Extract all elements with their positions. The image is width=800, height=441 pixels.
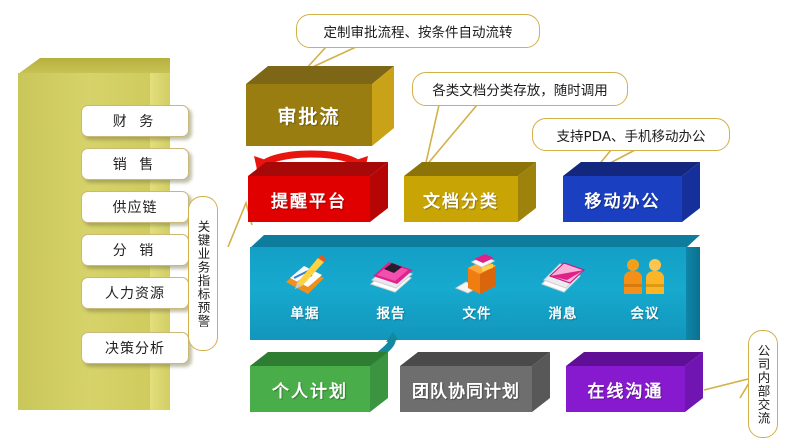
callout-approval-flow: 定制审批流程、按条件自动流转	[296, 14, 540, 48]
sidebar-item-label: 分 销	[113, 240, 157, 260]
cabinet-icon	[454, 252, 500, 298]
sidebar-item-label: 财 务	[113, 111, 157, 131]
callout-internal-communication: 公司内部交流	[748, 330, 778, 438]
diagram-canvas: 财 务 销 售 供应链 分 销 人力资源 决策分析 关键业务指标预警 定制审批流…	[0, 0, 800, 441]
box-label: 审批流	[277, 102, 340, 129]
box-label: 在线沟通	[588, 377, 664, 402]
callout-text: 支持PDA、手机移动办公	[556, 125, 705, 145]
service-item-label: 报告	[377, 302, 406, 322]
service-item-report[interactable]: 报告	[352, 252, 430, 322]
sidebar-item-label: 决策分析	[105, 338, 165, 358]
service-item-file[interactable]: 文件	[438, 252, 516, 322]
sidebar-item-finance[interactable]: 财 务	[81, 105, 189, 137]
service-item-label: 文件	[463, 302, 492, 322]
box-mobile-office[interactable]: 移动办公	[563, 162, 700, 224]
sidebar-item-decision-analysis[interactable]: 决策分析	[81, 332, 189, 364]
callout-mobile-office: 支持PDA、手机移动办公	[532, 118, 730, 151]
callout-text: 公司内部交流	[754, 344, 773, 425]
callout-kpi-alert: 关键业务指标预警	[188, 196, 218, 351]
box-online-chat[interactable]: 在线沟通	[566, 352, 703, 414]
service-item-meeting[interactable]: 会议	[606, 252, 684, 322]
callout-text: 定制审批流程、按条件自动流转	[324, 21, 513, 41]
books-icon	[368, 252, 414, 298]
sidebar-item-hr[interactable]: 人力资源	[81, 277, 189, 309]
box-approval-flow[interactable]: 审批流	[246, 66, 394, 150]
sidebar-item-label: 销 售	[113, 154, 157, 174]
sidebar-item-supply-chain[interactable]: 供应链	[81, 191, 189, 223]
service-item-message[interactable]: 消息	[524, 252, 602, 322]
box-label: 移动办公	[585, 187, 661, 212]
people-icon	[619, 252, 671, 298]
box-personal-plan[interactable]: 个人计划	[250, 352, 388, 414]
box-label: 文档分类	[423, 187, 499, 212]
callout-document-storage: 各类文档分类存放，随时调用	[412, 72, 628, 106]
service-item-label: 会议	[631, 302, 660, 322]
sidebar-item-distribution[interactable]: 分 销	[81, 234, 189, 266]
form-icon	[282, 252, 328, 298]
box-label: 个人计划	[272, 377, 348, 402]
box-team-plan[interactable]: 团队协同计划	[400, 352, 550, 414]
box-reminder-platform[interactable]: 提醒平台	[248, 162, 388, 224]
sidebar-item-sales[interactable]: 销 售	[81, 148, 189, 180]
service-item-label: 单据	[291, 302, 320, 322]
mail-icon	[540, 252, 586, 298]
callout-text: 关键业务指标预警	[194, 220, 213, 328]
pillar-top-face	[18, 58, 170, 74]
box-document-category[interactable]: 文档分类	[404, 162, 536, 224]
callout-text: 各类文档分类存放，随时调用	[432, 79, 608, 99]
service-item-form[interactable]: 单据	[266, 252, 344, 322]
box-label: 团队协同计划	[412, 377, 520, 402]
box-label: 提醒平台	[271, 187, 347, 212]
service-item-label: 消息	[549, 302, 578, 322]
sidebar-item-label: 供应链	[113, 197, 158, 217]
sidebar-item-label: 人力资源	[105, 283, 165, 303]
service-band-side-face	[686, 247, 700, 340]
